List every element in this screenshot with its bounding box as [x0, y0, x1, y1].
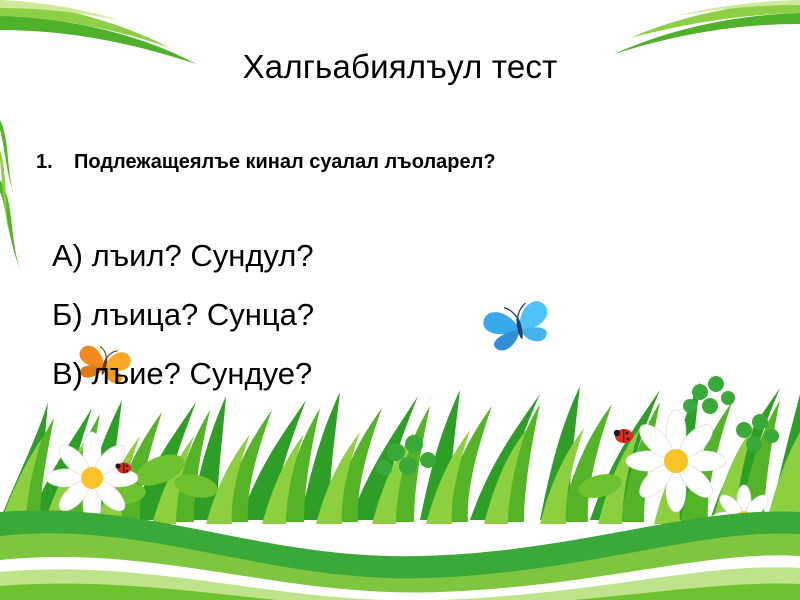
answer-list: А) лъил? Сундул? Б) лъица? Сунца? В) лъи…	[52, 240, 752, 417]
slide: Халгьабиялъул тест 1. Подлежащеялъе кина…	[0, 0, 800, 600]
answer-option-c: В) лъие? Сундуе?	[52, 358, 752, 389]
question-block: 1. Подлежащеялъе кинал суалал лъоларел?	[36, 148, 676, 176]
answer-option-a: А) лъил? Сундул?	[52, 240, 752, 271]
ladybug-icon	[614, 429, 633, 443]
question-text: Подлежащеялъе кинал суалал лъоларел?	[74, 148, 496, 176]
daisy-flower	[46, 432, 138, 524]
answer-option-b: Б) лъица? Сунца?	[52, 299, 752, 330]
daisy-flower	[711, 485, 777, 553]
question-number: 1.	[36, 148, 74, 176]
page-title: Халгьабиялъул тест	[0, 48, 800, 86]
ladybug-icon	[115, 463, 131, 474]
daisy-flower	[626, 410, 726, 512]
